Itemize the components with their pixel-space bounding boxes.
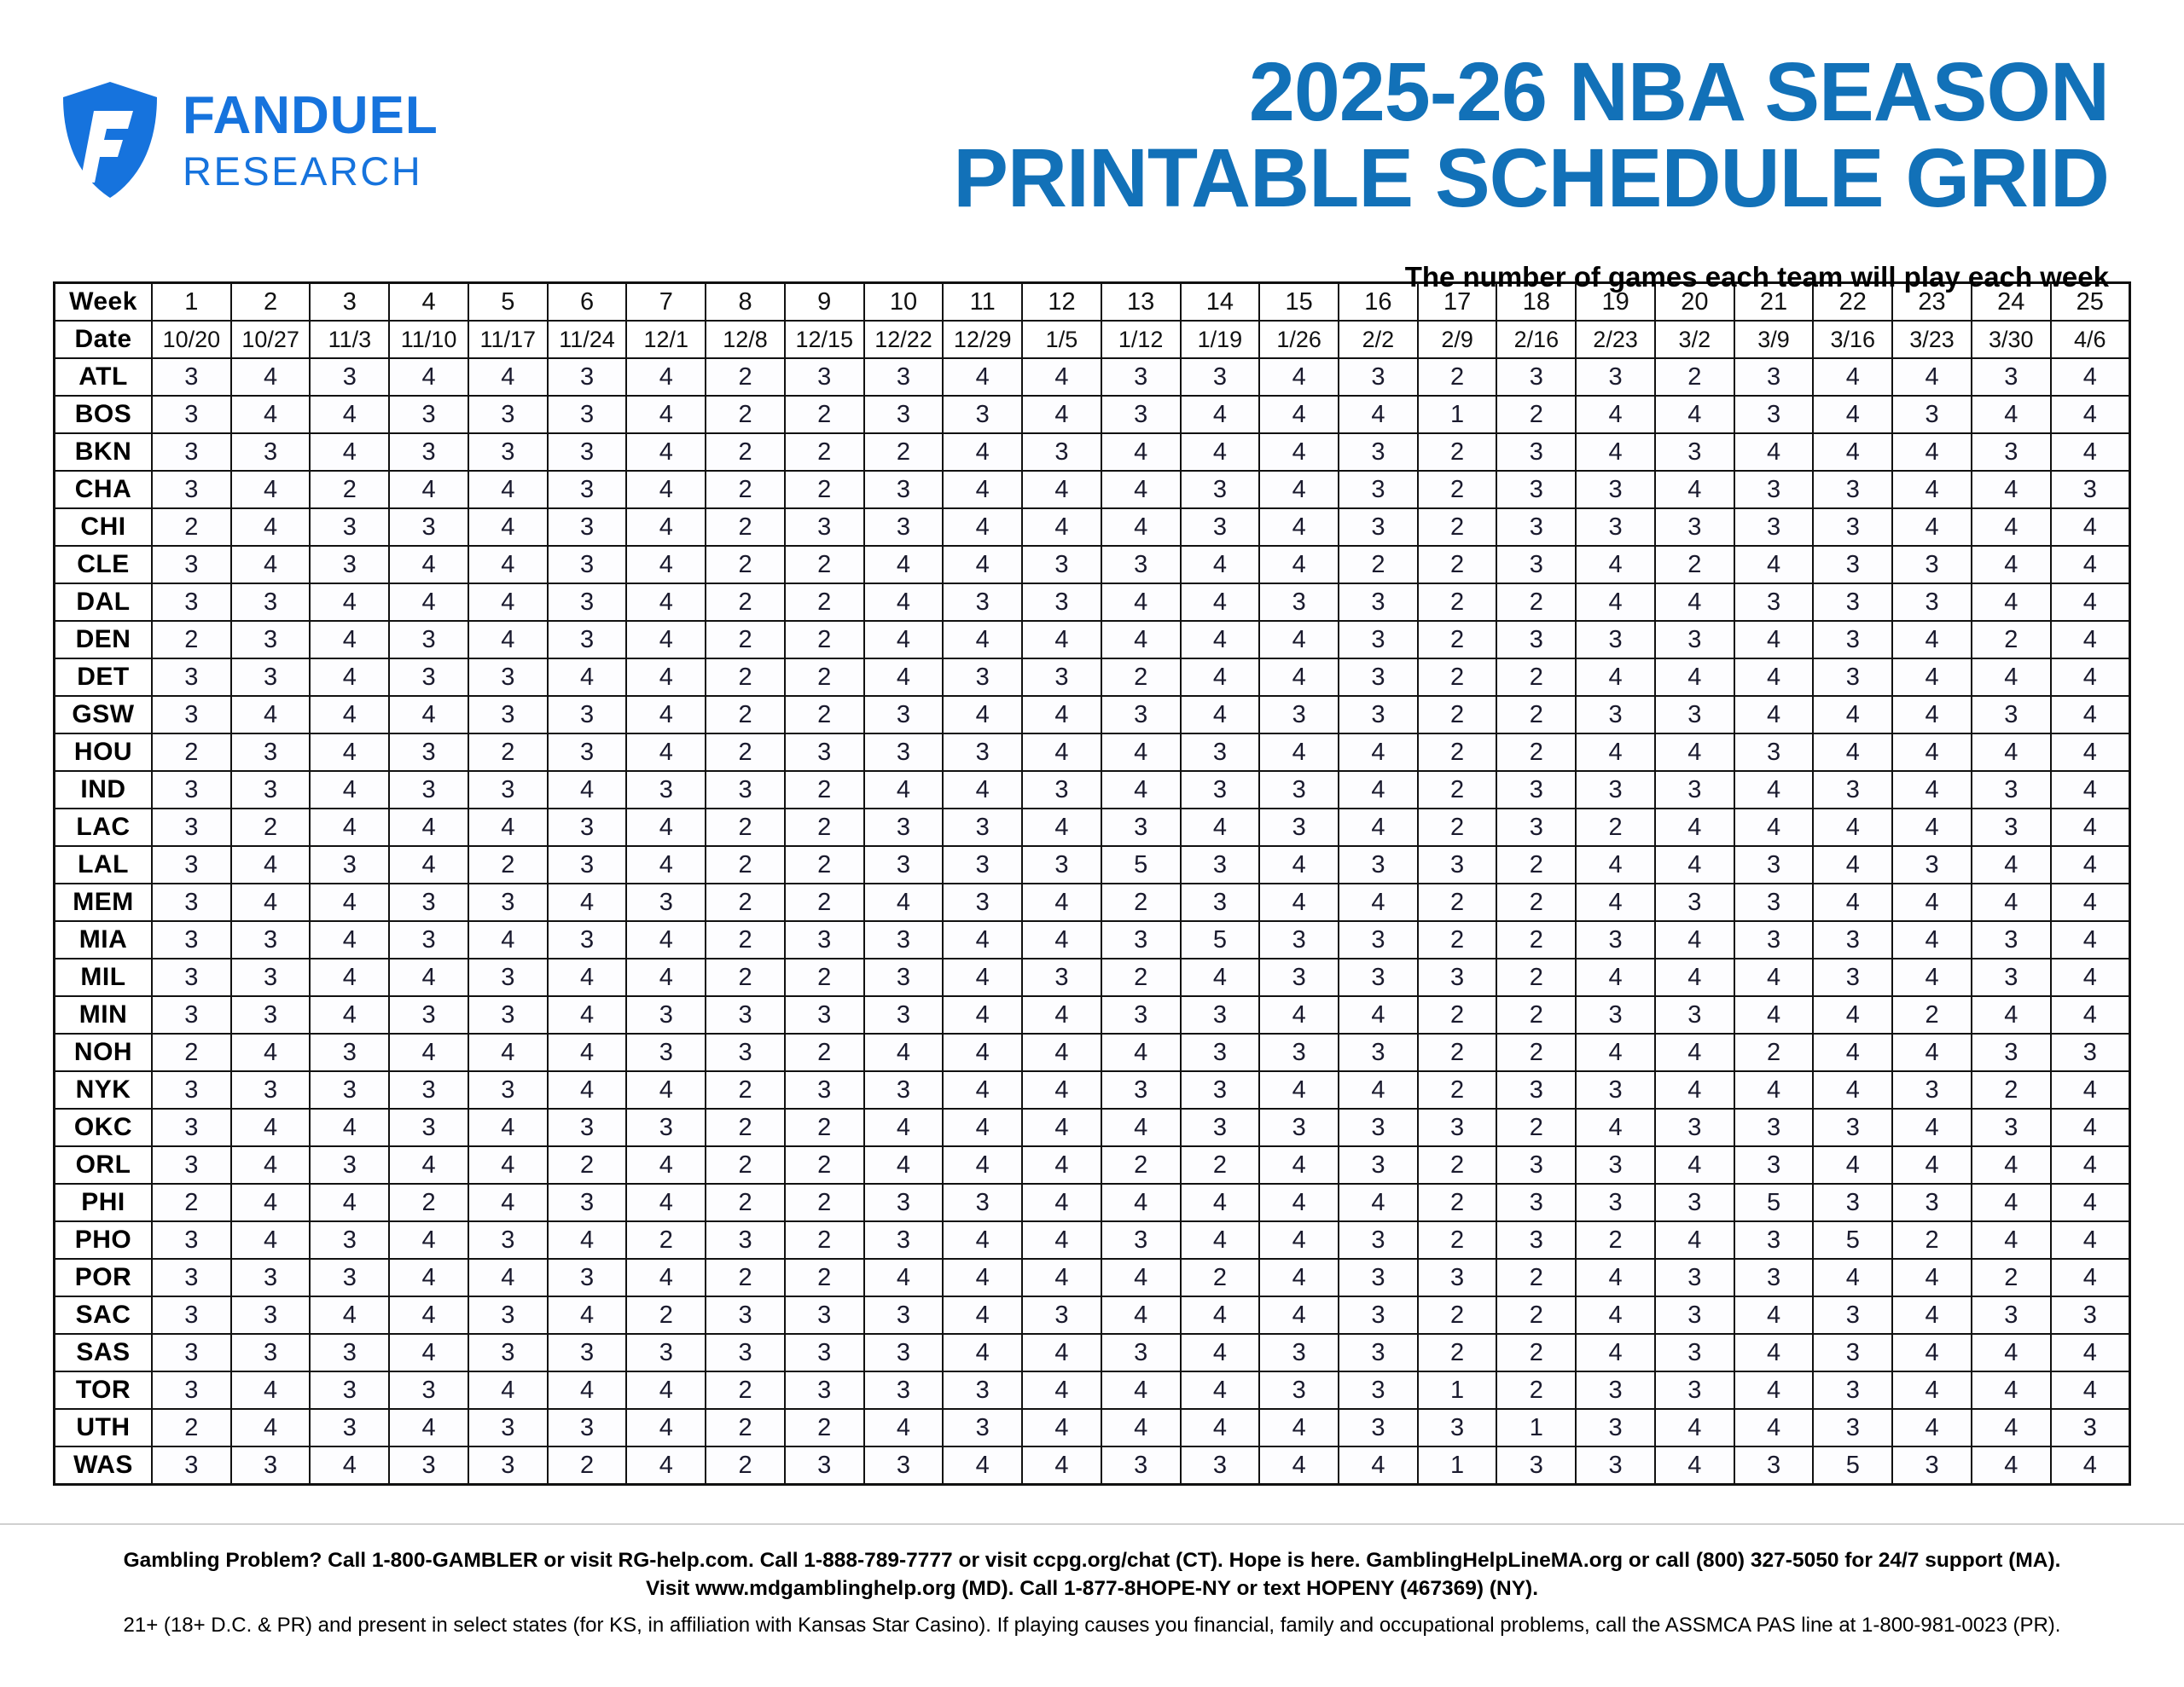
games-cell: 4 — [864, 1034, 944, 1071]
games-cell: 3 — [389, 1109, 468, 1146]
games-cell: 3 — [152, 809, 231, 846]
games-cell: 3 — [231, 433, 311, 471]
games-cell: 3 — [1101, 396, 1181, 433]
games-cell: 3 — [1101, 358, 1181, 396]
games-cell: 2 — [548, 1446, 627, 1485]
team-abbreviation-por: POR — [55, 1259, 153, 1296]
games-cell: 3 — [785, 921, 864, 959]
games-cell: 3 — [1339, 1109, 1418, 1146]
week-date-header: 11/24 — [548, 321, 627, 358]
games-cell: 3 — [1339, 959, 1418, 996]
games-cell: 4 — [1181, 809, 1260, 846]
games-cell: 3 — [626, 884, 706, 921]
games-cell: 3 — [1734, 396, 1814, 433]
games-cell: 4 — [1259, 396, 1339, 433]
brand-subtitle: RESEARCH — [183, 151, 439, 191]
games-cell: 3 — [548, 1334, 627, 1371]
games-cell: 4 — [1022, 1371, 1101, 1409]
games-cell: 3 — [1576, 771, 1655, 809]
games-cell: 4 — [389, 471, 468, 508]
games-cell: 4 — [1655, 1221, 1734, 1259]
games-cell: 4 — [231, 546, 311, 583]
games-cell: 4 — [943, 1146, 1022, 1184]
games-cell: 3 — [1576, 358, 1655, 396]
games-cell: 2 — [1576, 809, 1655, 846]
games-cell: 4 — [468, 1034, 548, 1071]
games-cell: 3 — [152, 546, 231, 583]
games-cell: 3 — [389, 1446, 468, 1485]
games-cell: 2 — [785, 1409, 864, 1446]
games-cell: 4 — [1892, 471, 1972, 508]
games-cell: 4 — [1022, 1446, 1101, 1485]
games-cell: 3 — [1101, 546, 1181, 583]
games-cell: 3 — [1022, 1296, 1101, 1334]
games-cell: 4 — [1339, 1446, 1418, 1485]
games-cell: 4 — [943, 996, 1022, 1034]
team-abbreviation-dal: DAL — [55, 583, 153, 621]
games-cell: 4 — [1576, 658, 1655, 696]
team-row: MIA3343434233443533223433434 — [55, 921, 2130, 959]
games-cell: 3 — [1496, 433, 1576, 471]
games-cell: 2 — [1496, 1259, 1576, 1296]
games-cell: 4 — [310, 884, 389, 921]
team-abbreviation-hou: HOU — [55, 733, 153, 771]
team-row: SAC3344342333434443224343433 — [55, 1296, 2130, 1334]
games-cell: 3 — [389, 771, 468, 809]
games-cell: 4 — [864, 583, 944, 621]
games-cell: 2 — [1418, 921, 1497, 959]
games-cell: 4 — [1339, 884, 1418, 921]
games-cell: 2 — [1101, 658, 1181, 696]
games-cell: 4 — [864, 1409, 944, 1446]
games-cell: 3 — [152, 1071, 231, 1109]
games-cell: 4 — [1259, 884, 1339, 921]
games-cell: 4 — [626, 358, 706, 396]
games-cell: 3 — [2051, 471, 2130, 508]
games-cell: 4 — [2051, 1184, 2130, 1221]
games-cell: 2 — [1496, 1109, 1576, 1146]
games-cell: 4 — [1892, 1259, 1972, 1296]
games-cell: 4 — [389, 1259, 468, 1296]
games-cell: 3 — [1892, 583, 1972, 621]
games-cell: 4 — [1022, 1334, 1101, 1371]
games-cell: 4 — [626, 1071, 706, 1109]
week-number-header: 3 — [310, 283, 389, 322]
games-cell: 3 — [310, 1409, 389, 1446]
games-cell: 3 — [548, 621, 627, 658]
games-cell: 2 — [706, 546, 785, 583]
games-cell: 3 — [1101, 1221, 1181, 1259]
team-abbreviation-orl: ORL — [55, 1146, 153, 1184]
team-abbreviation-chi: CHI — [55, 508, 153, 546]
games-cell: 2 — [706, 508, 785, 546]
games-cell: 3 — [548, 846, 627, 884]
games-cell: 4 — [1972, 396, 2051, 433]
games-cell: 4 — [2051, 733, 2130, 771]
games-cell: 4 — [310, 809, 389, 846]
games-cell: 3 — [1734, 471, 1814, 508]
games-cell: 4 — [2051, 1109, 2130, 1146]
games-cell: 3 — [1496, 1221, 1576, 1259]
team-row: POR3334434224444243324334424 — [55, 1259, 2130, 1296]
games-cell: 3 — [1339, 1221, 1418, 1259]
games-cell: 4 — [468, 471, 548, 508]
games-cell: 4 — [1259, 1184, 1339, 1221]
games-cell: 3 — [1734, 1146, 1814, 1184]
games-cell: 4 — [1972, 658, 2051, 696]
games-cell: 3 — [1496, 1446, 1576, 1485]
games-cell: 4 — [626, 809, 706, 846]
games-cell: 2 — [706, 396, 785, 433]
team-abbreviation-pho: PHO — [55, 1221, 153, 1259]
games-cell: 3 — [864, 921, 944, 959]
games-cell: 4 — [468, 508, 548, 546]
games-cell: 4 — [1022, 358, 1101, 396]
games-cell: 4 — [1892, 1109, 1972, 1146]
games-cell: 5 — [1813, 1446, 1892, 1485]
games-cell: 3 — [1339, 846, 1418, 884]
games-cell: 3 — [548, 396, 627, 433]
games-cell: 3 — [1339, 433, 1418, 471]
games-cell: 4 — [943, 1034, 1022, 1071]
games-cell: 4 — [1655, 471, 1734, 508]
games-cell: 2 — [1496, 1296, 1576, 1334]
games-cell: 3 — [1655, 621, 1734, 658]
games-cell: 4 — [1259, 1259, 1339, 1296]
games-cell: 3 — [1734, 733, 1814, 771]
games-cell: 2 — [1496, 696, 1576, 733]
games-cell: 4 — [1892, 809, 1972, 846]
games-cell: 4 — [1259, 1409, 1339, 1446]
games-cell: 4 — [626, 1146, 706, 1184]
games-cell: 4 — [626, 1184, 706, 1221]
games-cell: 3 — [1813, 546, 1892, 583]
games-cell: 3 — [943, 1409, 1022, 1446]
team-row: NOH2434443324444333224424433 — [55, 1034, 2130, 1071]
games-cell: 3 — [1576, 696, 1655, 733]
games-cell: 4 — [468, 1184, 548, 1221]
games-cell: 3 — [231, 733, 311, 771]
games-cell: 2 — [785, 396, 864, 433]
games-cell: 4 — [1734, 696, 1814, 733]
games-cell: 4 — [1734, 771, 1814, 809]
games-cell: 3 — [152, 433, 231, 471]
games-cell: 4 — [626, 1371, 706, 1409]
games-cell: 3 — [785, 1446, 864, 1485]
games-cell: 4 — [943, 1334, 1022, 1371]
games-cell: 3 — [1259, 921, 1339, 959]
games-cell: 4 — [1972, 1221, 2051, 1259]
games-cell: 3 — [389, 996, 468, 1034]
games-cell: 3 — [864, 846, 944, 884]
games-cell: 4 — [1813, 1034, 1892, 1071]
games-cell: 4 — [548, 771, 627, 809]
games-cell: 4 — [1339, 996, 1418, 1034]
games-cell: 3 — [468, 771, 548, 809]
week-date-header: 1/26 — [1259, 321, 1339, 358]
games-cell: 2 — [1418, 658, 1497, 696]
games-cell: 3 — [468, 1446, 548, 1485]
games-cell: 3 — [152, 1334, 231, 1371]
games-cell: 3 — [1339, 1371, 1418, 1409]
games-cell: 3 — [152, 471, 231, 508]
team-row: LAC3244434223343434232444434 — [55, 809, 2130, 846]
games-cell: 4 — [1022, 1034, 1101, 1071]
games-cell: 3 — [389, 733, 468, 771]
games-cell: 4 — [943, 921, 1022, 959]
team-row: GSW3444334223443433223344434 — [55, 696, 2130, 733]
games-cell: 4 — [231, 846, 311, 884]
games-cell: 3 — [626, 771, 706, 809]
games-cell: 2 — [1418, 358, 1497, 396]
games-cell: 4 — [548, 1071, 627, 1109]
games-cell: 4 — [1101, 1184, 1181, 1221]
games-cell: 2 — [785, 621, 864, 658]
games-cell: 3 — [626, 1334, 706, 1371]
games-cell: 4 — [1259, 621, 1339, 658]
games-cell: 3 — [231, 921, 311, 959]
games-cell: 4 — [310, 1184, 389, 1221]
week-date-header: 1/5 — [1022, 321, 1101, 358]
games-cell: 3 — [1576, 621, 1655, 658]
games-cell: 2 — [626, 1221, 706, 1259]
games-cell: 3 — [1813, 921, 1892, 959]
games-cell: 2 — [1181, 1259, 1260, 1296]
team-abbreviation-okc: OKC — [55, 1109, 153, 1146]
games-cell: 4 — [1101, 433, 1181, 471]
games-cell: 4 — [1892, 433, 1972, 471]
games-cell: 4 — [626, 471, 706, 508]
games-cell: 3 — [864, 508, 944, 546]
games-cell: 4 — [468, 583, 548, 621]
games-cell: 2 — [1418, 696, 1497, 733]
games-cell: 4 — [2051, 358, 2130, 396]
games-cell: 2 — [706, 583, 785, 621]
games-cell: 2 — [1418, 583, 1497, 621]
games-cell: 3 — [310, 508, 389, 546]
games-cell: 3 — [1101, 1334, 1181, 1371]
games-cell: 4 — [626, 733, 706, 771]
games-cell: 4 — [389, 1334, 468, 1371]
games-cell: 4 — [1181, 959, 1260, 996]
games-cell: 3 — [1972, 809, 2051, 846]
games-cell: 3 — [864, 1371, 944, 1409]
page-title-line-1: 2025-26 NBA SEASON — [439, 49, 2109, 136]
games-cell: 4 — [1259, 1446, 1339, 1485]
games-cell: 2 — [152, 508, 231, 546]
games-cell: 2 — [468, 846, 548, 884]
games-cell: 4 — [1813, 733, 1892, 771]
games-cell: 2 — [1734, 1034, 1814, 1071]
games-cell: 3 — [231, 583, 311, 621]
games-cell: 3 — [1813, 1371, 1892, 1409]
games-cell: 3 — [943, 733, 1022, 771]
games-cell: 2 — [1418, 1034, 1497, 1071]
games-cell: 4 — [1734, 1071, 1814, 1109]
games-cell: 4 — [389, 583, 468, 621]
games-cell: 4 — [1892, 921, 1972, 959]
games-cell: 3 — [1339, 1409, 1418, 1446]
games-cell: 4 — [548, 658, 627, 696]
games-cell: 3 — [1339, 696, 1418, 733]
team-abbreviation-mil: MIL — [55, 959, 153, 996]
team-abbreviation-mia: MIA — [55, 921, 153, 959]
games-cell: 3 — [1259, 1371, 1339, 1409]
games-cell: 3 — [152, 884, 231, 921]
games-cell: 2 — [785, 1034, 864, 1071]
games-cell: 4 — [1259, 508, 1339, 546]
games-cell: 3 — [1496, 508, 1576, 546]
games-cell: 3 — [1022, 583, 1101, 621]
games-cell: 3 — [231, 1334, 311, 1371]
games-cell: 4 — [2051, 1071, 2130, 1109]
games-cell: 4 — [626, 433, 706, 471]
games-cell: 4 — [2051, 433, 2130, 471]
games-cell: 5 — [1813, 1221, 1892, 1259]
games-cell: 3 — [1576, 1371, 1655, 1409]
games-cell: 3 — [1418, 1409, 1497, 1446]
games-cell: 2 — [626, 1296, 706, 1334]
week-date-header: 2/9 — [1418, 321, 1497, 358]
games-cell: 3 — [1181, 1071, 1260, 1109]
games-cell: 4 — [389, 696, 468, 733]
games-cell: 4 — [943, 621, 1022, 658]
games-cell: 3 — [785, 996, 864, 1034]
games-cell: 4 — [1259, 733, 1339, 771]
games-cell: 4 — [310, 996, 389, 1034]
team-abbreviation-lal: LAL — [55, 846, 153, 884]
games-cell: 4 — [626, 621, 706, 658]
games-cell: 3 — [468, 658, 548, 696]
games-cell: 4 — [231, 358, 311, 396]
games-cell: 4 — [231, 696, 311, 733]
games-cell: 2 — [1972, 1259, 2051, 1296]
games-cell: 4 — [548, 884, 627, 921]
games-cell: 3 — [864, 1221, 944, 1259]
team-abbreviation-was: WAS — [55, 1446, 153, 1485]
footer-line-2: Visit www.mdgamblinghelp.org (MD). Call … — [34, 1575, 2150, 1603]
games-cell: 3 — [1339, 1296, 1418, 1334]
schedule-grid-wrapper: Week 12345678910111213141516171819202122… — [0, 281, 2184, 1486]
team-row: ATL3434434233443343233234434 — [55, 358, 2130, 396]
games-cell: 4 — [1734, 1409, 1814, 1446]
week-date-header: 4/6 — [2051, 321, 2130, 358]
team-row: OKC3443433224444333324333434 — [55, 1109, 2130, 1146]
games-cell: 3 — [2051, 1409, 2130, 1446]
games-cell: 4 — [2051, 771, 2130, 809]
games-cell: 3 — [1339, 921, 1418, 959]
games-cell: 4 — [1734, 1296, 1814, 1334]
games-cell: 4 — [2051, 809, 2130, 846]
games-cell: 4 — [231, 1109, 311, 1146]
games-cell: 3 — [1339, 358, 1418, 396]
games-cell: 3 — [152, 583, 231, 621]
games-cell: 5 — [1101, 846, 1181, 884]
games-cell: 2 — [785, 471, 864, 508]
games-cell: 2 — [1418, 1296, 1497, 1334]
games-cell: 3 — [389, 921, 468, 959]
page-title-line-2: PRINTABLE SCHEDULE GRID — [439, 136, 2109, 222]
games-cell: 4 — [1339, 809, 1418, 846]
games-cell: 3 — [1734, 508, 1814, 546]
games-cell: 4 — [1576, 1296, 1655, 1334]
games-cell: 2 — [706, 358, 785, 396]
games-cell: 4 — [1813, 884, 1892, 921]
fanduel-shield-icon — [60, 80, 160, 200]
games-cell: 3 — [864, 696, 944, 733]
games-cell: 4 — [1892, 696, 1972, 733]
games-cell: 4 — [864, 1146, 944, 1184]
games-cell: 4 — [943, 1221, 1022, 1259]
games-cell: 4 — [943, 508, 1022, 546]
games-cell: 3 — [864, 1296, 944, 1334]
games-cell: 3 — [1496, 1184, 1576, 1221]
page-header: FANDUEL RESEARCH 2025-26 NBA SEASON PRIN… — [0, 0, 2184, 281]
games-cell: 2 — [706, 1259, 785, 1296]
games-cell: 4 — [1972, 1371, 2051, 1409]
games-cell: 3 — [468, 996, 548, 1034]
games-cell: 3 — [706, 1221, 785, 1259]
games-cell: 4 — [1022, 1146, 1101, 1184]
team-abbreviation-bos: BOS — [55, 396, 153, 433]
games-cell: 3 — [1022, 546, 1101, 583]
legal-footer: Gambling Problem? Call 1-800-GAMBLER or … — [0, 1525, 2184, 1639]
week-header-label: Week — [55, 283, 153, 322]
games-cell: 4 — [231, 1184, 311, 1221]
games-cell: 3 — [706, 996, 785, 1034]
games-cell: 3 — [1576, 1409, 1655, 1446]
games-cell: 4 — [1259, 546, 1339, 583]
games-cell: 4 — [1576, 1109, 1655, 1146]
games-cell: 4 — [1655, 1071, 1734, 1109]
games-cell: 4 — [1734, 658, 1814, 696]
games-cell: 4 — [626, 508, 706, 546]
games-cell: 3 — [943, 396, 1022, 433]
games-cell: 4 — [2051, 959, 2130, 996]
games-cell: 3 — [1101, 696, 1181, 733]
games-cell: 1 — [1496, 1409, 1576, 1446]
games-cell: 4 — [626, 658, 706, 696]
games-cell: 4 — [1972, 583, 2051, 621]
games-cell: 2 — [1496, 1034, 1576, 1071]
games-cell: 4 — [626, 583, 706, 621]
games-cell: 4 — [2051, 696, 2130, 733]
games-cell: 4 — [864, 771, 944, 809]
games-cell: 4 — [626, 546, 706, 583]
week-number-header: 2 — [231, 283, 311, 322]
games-cell: 4 — [1734, 433, 1814, 471]
games-cell: 3 — [1576, 1184, 1655, 1221]
games-cell: 2 — [468, 733, 548, 771]
games-cell: 2 — [706, 1146, 785, 1184]
games-cell: 3 — [310, 546, 389, 583]
games-cell: 2 — [706, 1409, 785, 1446]
games-cell: 3 — [1813, 1409, 1892, 1446]
week-date-header: 10/27 — [231, 321, 311, 358]
games-cell: 3 — [1576, 1146, 1655, 1184]
team-abbreviation-noh: NOH — [55, 1034, 153, 1071]
games-cell: 4 — [2051, 1259, 2130, 1296]
games-cell: 4 — [2051, 621, 2130, 658]
games-cell: 2 — [785, 1184, 864, 1221]
games-cell: 3 — [468, 959, 548, 996]
games-cell: 4 — [310, 583, 389, 621]
games-cell: 3 — [943, 809, 1022, 846]
games-cell: 3 — [389, 396, 468, 433]
team-abbreviation-ind: IND — [55, 771, 153, 809]
games-cell: 3 — [1181, 1446, 1260, 1485]
games-cell: 4 — [2051, 583, 2130, 621]
